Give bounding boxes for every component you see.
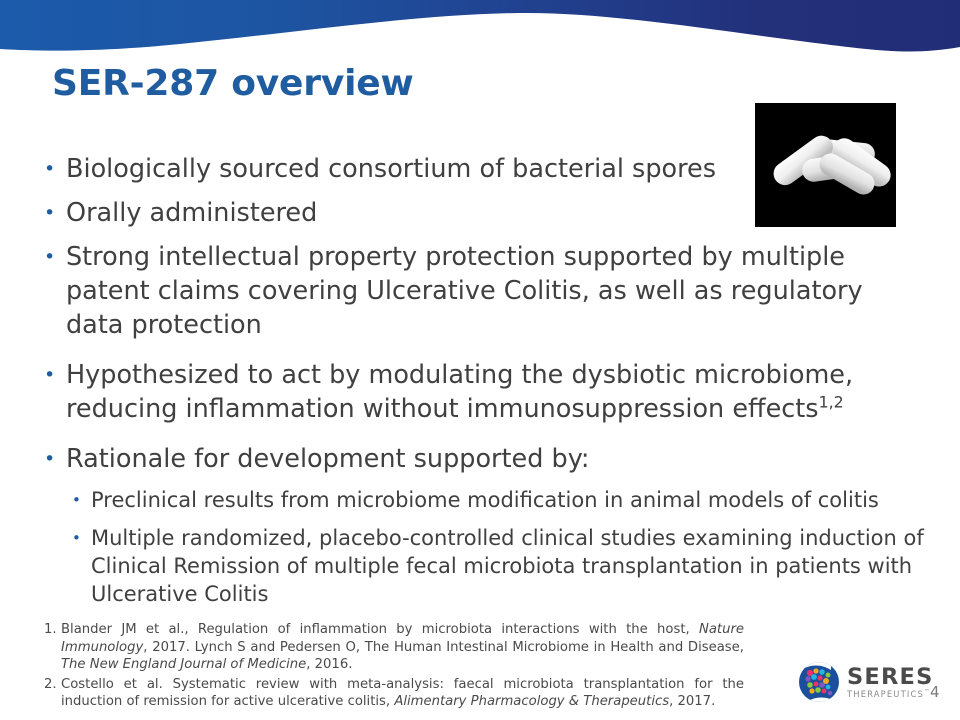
bullet-marker-icon: •: [44, 358, 66, 385]
bullet-marker-icon: •: [44, 240, 66, 267]
seres-wordmark: SERES THERAPEUTICS™: [847, 666, 933, 698]
bullet-marker-icon: •: [44, 152, 66, 179]
header-wave-banner: [0, 0, 960, 60]
spacer: [44, 342, 924, 358]
slide-number: 4: [930, 683, 940, 701]
bullet-text: Biologically sourced consortium of bacte…: [66, 152, 924, 186]
spacer: [44, 514, 924, 524]
seres-logo: SERES THERAPEUTICS™: [797, 660, 933, 704]
footnote-text: Blander JM et al., Regulation of inflamm…: [61, 621, 744, 674]
logo-tagline-text: THERAPEUTICS: [847, 689, 924, 699]
footnote-item: 2. Costello et al. Systematic review wit…: [44, 676, 744, 711]
bullet-list: • Biologically sourced consortium of bac…: [44, 152, 924, 608]
bullet-item: • Hypothesized to act by modulating the …: [44, 358, 924, 426]
sub-bullet-text: Preclinical results from microbiome modi…: [91, 486, 924, 514]
bullet-marker-icon: •: [44, 196, 66, 223]
spacer: [44, 186, 924, 196]
seres-logo-mark-icon: [797, 660, 841, 704]
bullet-item: • Orally administered: [44, 196, 924, 230]
footnote-list: 1. Blander JM et al., Regulation of infl…: [44, 621, 744, 711]
page-title: SER-287 overview: [52, 63, 414, 104]
sub-bullet-item: • Multiple randomized, placebo-controlle…: [72, 524, 924, 608]
sub-bullet-item: • Preclinical results from microbiome mo…: [72, 486, 924, 514]
bullet-marker-icon: •: [72, 486, 91, 508]
spacer: [44, 476, 924, 486]
logo-company-name: SERES: [847, 666, 933, 689]
bullet-marker-icon: •: [44, 442, 66, 469]
bullet-text: Rationale for development supported by:: [66, 442, 924, 476]
sub-bullet-text: Multiple randomized, placebo-controlled …: [91, 524, 924, 608]
slide: SER-287 overview: [0, 0, 960, 720]
bullet-item: • Biologically sourced consortium of bac…: [44, 152, 924, 186]
bullet-text: Orally administered: [66, 196, 924, 230]
bullet-text: Hypothesized to act by modulating the dy…: [66, 360, 853, 424]
footnote-superscript: 1,2: [819, 393, 844, 412]
bullet-marker-icon: •: [72, 524, 91, 546]
spacer: [44, 230, 924, 240]
bullet-item: • Rationale for development supported by…: [44, 442, 924, 476]
footnote-text: Costello et al. Systematic review with m…: [61, 676, 744, 711]
footnote-number: 2.: [44, 676, 61, 694]
bullet-text: Strong intellectual property protection …: [66, 240, 924, 342]
bullet-item: • Strong intellectual property protectio…: [44, 240, 924, 342]
bullet-text-with-superscript: Hypothesized to act by modulating the dy…: [66, 358, 924, 426]
logo-tagline: THERAPEUTICS™: [847, 690, 933, 698]
spacer: [44, 426, 924, 442]
footnote-number: 1.: [44, 621, 61, 639]
footnote-item: 1. Blander JM et al., Regulation of infl…: [44, 621, 744, 674]
